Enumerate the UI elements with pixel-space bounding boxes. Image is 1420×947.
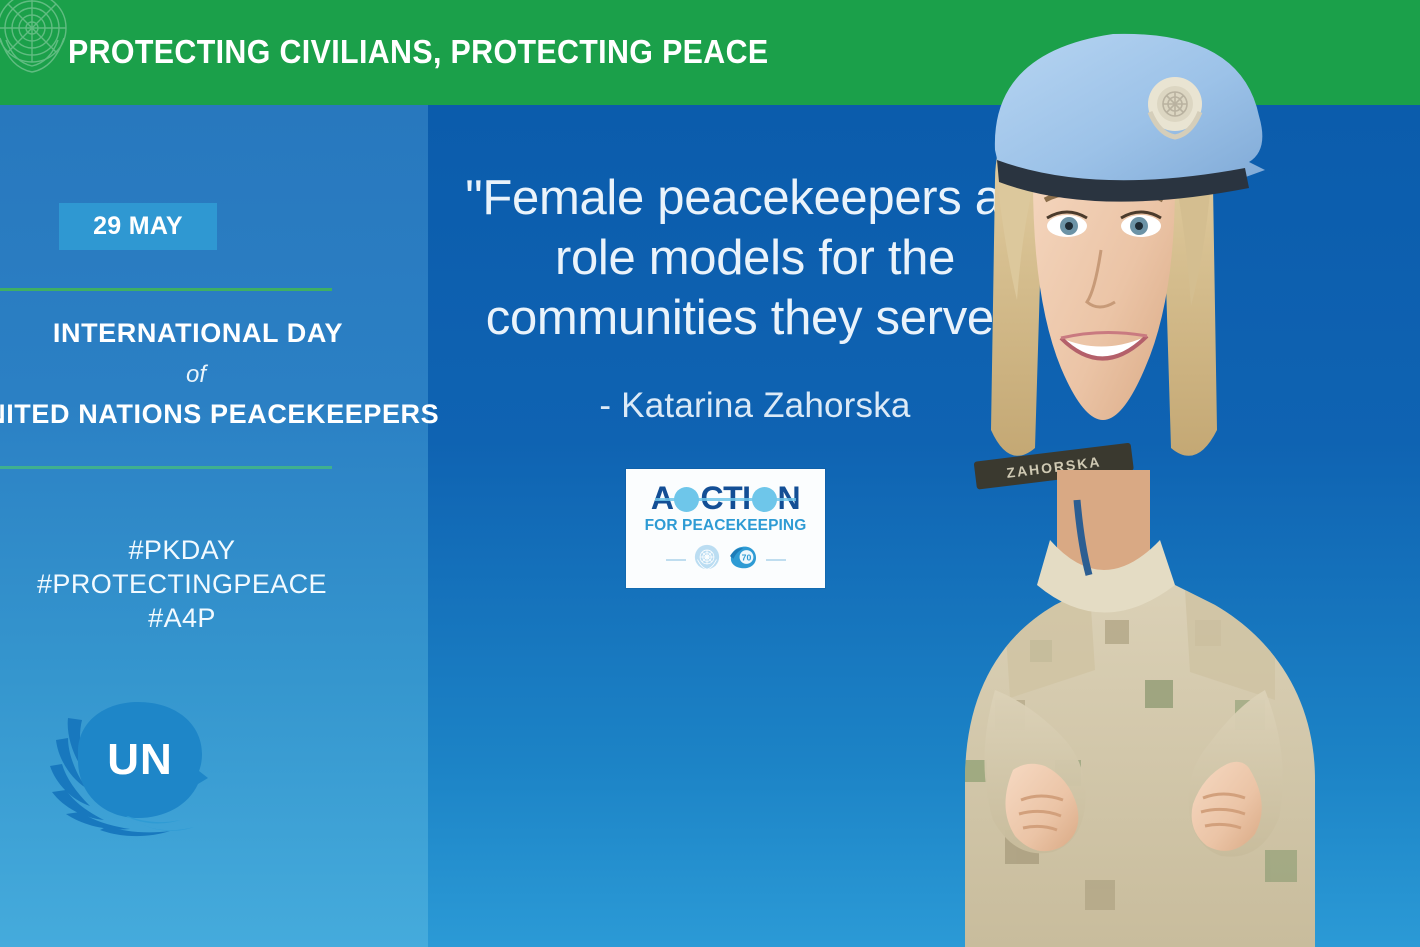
observance-connector: of bbox=[0, 361, 428, 389]
hashtag-item: #A4P bbox=[0, 601, 396, 635]
date-badge-label: 29 MAY bbox=[93, 212, 183, 241]
observance-title: INTERNATIONAL DAY of UNITED NATIONS PEAC… bbox=[0, 318, 428, 430]
a4p-title-line2: FOR PEACEKEEPING bbox=[645, 517, 807, 535]
a4p-emblem-row: 70 bbox=[666, 544, 786, 575]
un-peacekeeping-helmet-logo-icon: UN bbox=[30, 690, 240, 850]
divider-dash bbox=[766, 559, 786, 561]
divider-dash bbox=[666, 559, 686, 561]
un-peacekeeping-70-dove-icon: 70 bbox=[728, 544, 758, 575]
header-title: PROTECTING CIVILIANS, PROTECTING PEACE bbox=[68, 33, 769, 71]
peacekeeper-photo: ZAHORSKA ZAHORSKA bbox=[845, 0, 1420, 947]
svg-text:70: 70 bbox=[741, 552, 751, 562]
observance-line2: UNITED NATIONS PEACEKEEPERS bbox=[0, 399, 428, 430]
divider-bottom bbox=[0, 466, 332, 469]
action-for-peacekeeping-logo: ACTIN FOR PEACEKEEPING bbox=[626, 469, 825, 588]
a4p-strike-decoration bbox=[655, 498, 796, 501]
a4p-title-line1: ACTIN bbox=[651, 482, 800, 514]
peacekeepers-day-graphic: CYP PROTECTING CIVILIANS, PROTECTING PEA… bbox=[0, 0, 1420, 947]
un-emblem-icon bbox=[694, 544, 720, 575]
hashtag-item: #PROTECTINGPEACE bbox=[0, 567, 396, 601]
hashtag-list: #PKDAY #PROTECTINGPEACE #A4P bbox=[0, 533, 396, 635]
divider-top bbox=[0, 288, 332, 291]
date-badge: 29 MAY bbox=[59, 203, 217, 250]
hashtag-item: #PKDAY bbox=[0, 533, 396, 567]
svg-text:UN: UN bbox=[107, 735, 173, 784]
observance-line1: INTERNATIONAL DAY bbox=[0, 318, 428, 349]
